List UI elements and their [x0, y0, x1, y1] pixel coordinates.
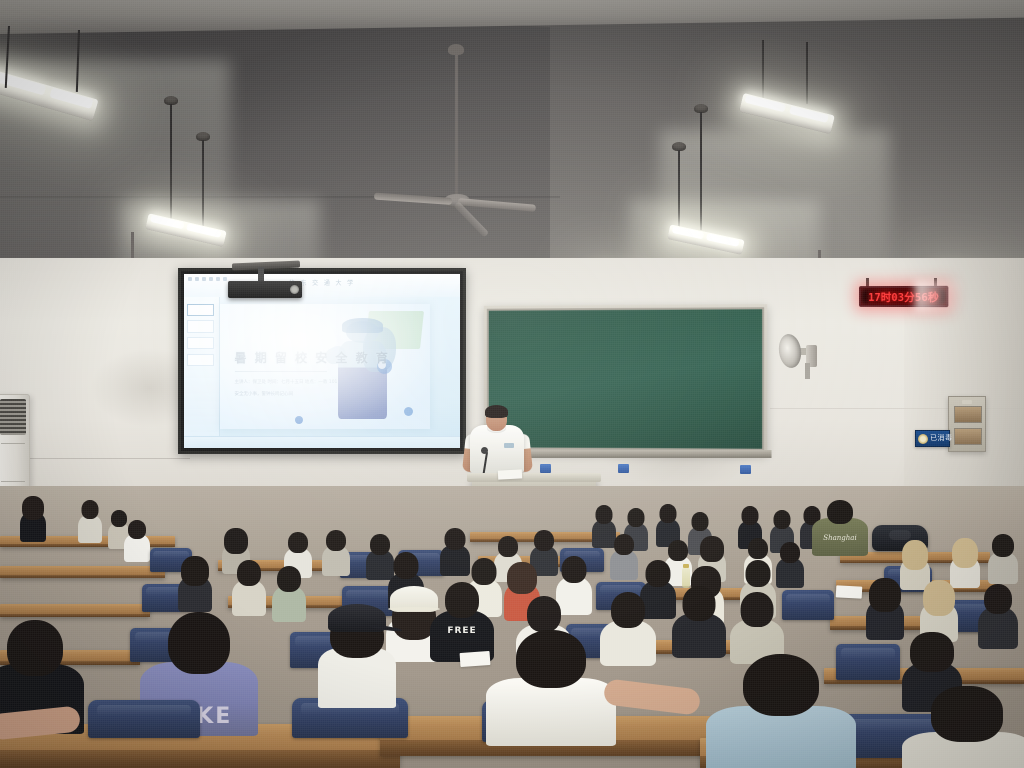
ceiling-fan-rod: [455, 54, 458, 196]
audience-member: [610, 534, 638, 578]
disinfected-sign-label: 已消毒: [930, 435, 953, 442]
light-rod: [202, 140, 204, 226]
chalk-eraser[interactable]: [540, 464, 551, 473]
chalkboard: [484, 304, 767, 454]
light-rod: [678, 150, 680, 234]
disinfected-sign: 已消毒: [915, 430, 950, 447]
desk-row: [0, 566, 165, 578]
shirt-graphic-text: Shanghai: [823, 534, 856, 542]
ceiling-soffit: [0, 0, 550, 300]
audience-member-arm: [0, 700, 80, 740]
seal-icon: [918, 434, 928, 444]
cabinet-label-icon: [962, 400, 972, 404]
light-rod: [170, 104, 172, 222]
light-rod: [806, 42, 808, 104]
light-rod: [762, 40, 764, 104]
audience-member: [20, 496, 46, 540]
audience-member: [730, 592, 784, 662]
audience-member-arm: [604, 676, 700, 712]
audience-member: [866, 578, 904, 638]
audience-member: [950, 538, 980, 586]
cabinet-pane: [954, 428, 982, 445]
audience-member: [232, 560, 266, 614]
wall-fan-stem: [805, 363, 810, 379]
handout-paper: [836, 585, 863, 598]
seat[interactable]: [782, 590, 834, 620]
seat-foreground[interactable]: [88, 700, 200, 738]
lecture-hall-photo: 华 东 交 通 大 学: [0, 0, 1024, 768]
light-rod: [700, 112, 702, 230]
audience-member: [902, 686, 1024, 768]
projection-screen: 华 东 交 通 大 学: [178, 268, 466, 454]
audience-member-olive-jacket: Shanghai: [812, 500, 868, 554]
chalk-eraser[interactable]: [740, 465, 751, 474]
audience-member: [322, 530, 350, 574]
ceiling-seam: [0, 196, 560, 198]
lecture-notes: [498, 469, 522, 479]
ac-vent-icon: [0, 399, 26, 435]
audience-member: [672, 586, 726, 656]
desk-row: [0, 604, 150, 617]
wall-cabinet[interactable]: [948, 396, 986, 452]
chalkboard-surface: [487, 307, 764, 451]
audience-member: [78, 500, 102, 542]
microphone-icon: [481, 447, 488, 454]
audience-member: [706, 654, 856, 768]
projector-lens-icon: [290, 285, 299, 294]
led-clock: 17时03分56秒: [859, 286, 948, 307]
chalk-eraser[interactable]: [618, 464, 629, 473]
audience-member: [124, 520, 150, 560]
audience-member: [988, 534, 1018, 582]
audience-member-black-cap: [318, 604, 396, 706]
audience-member: [272, 566, 306, 620]
projector: [228, 281, 302, 298]
audience-member-free-shirt: FREE: [430, 582, 494, 660]
audience-member: [978, 584, 1018, 646]
cabinet-pane: [954, 406, 982, 423]
audience-member: [486, 630, 616, 740]
shirt-graphic-text: FREE: [447, 626, 476, 636]
audience-member: [178, 556, 212, 610]
projection-screen-surface: 华 东 交 通 大 学: [184, 274, 460, 448]
led-clock-text: 17时03分56秒: [868, 288, 939, 304]
lecturer-hair: [485, 405, 508, 418]
audience-member: [776, 542, 804, 586]
ceiling: [0, 0, 1024, 300]
podium-top: [467, 473, 601, 482]
audience-member: [920, 580, 958, 640]
